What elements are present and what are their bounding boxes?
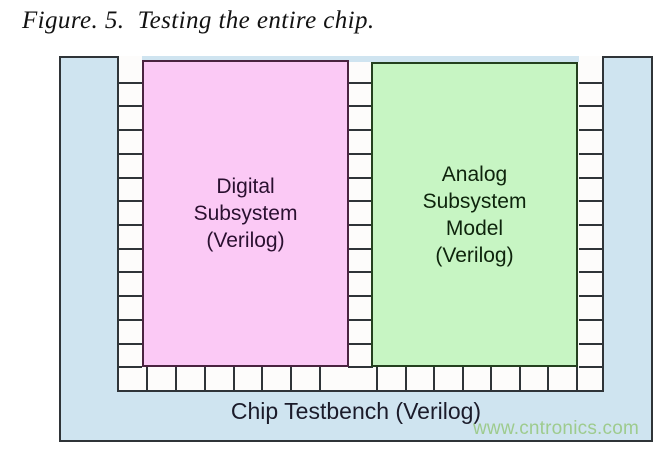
pin-middle-rung	[348, 319, 373, 321]
pin-left-rung	[117, 105, 142, 107]
chip-testbench-diagram: Digital Subsystem (Verilog) Analog Subsy…	[59, 56, 653, 442]
pin-middle-rung	[348, 271, 373, 273]
pin-column-right	[579, 58, 604, 390]
pin-right-rung	[579, 295, 604, 297]
digital-subsystem-block: Digital Subsystem (Verilog)	[142, 60, 349, 367]
pin-left-rung	[117, 343, 142, 345]
pin-left-rung	[117, 224, 142, 226]
pin-middle-rung	[348, 343, 373, 345]
pin-right-rung	[579, 177, 604, 179]
pin-left-rung	[117, 129, 142, 131]
pin-middle-rung	[348, 129, 373, 131]
pin-middle-rung	[348, 295, 373, 297]
pin-middle-rung	[348, 248, 373, 250]
pin-left-rung	[117, 200, 142, 202]
pin-middle-rung	[348, 224, 373, 226]
pin-right-rung	[579, 200, 604, 202]
pin-left-rung	[117, 248, 142, 250]
pin-middle-rung	[348, 153, 373, 155]
pin-right-rung	[579, 105, 604, 107]
pin-right-rung	[579, 343, 604, 345]
pin-right-rung	[579, 271, 604, 273]
pin-left-rung	[117, 319, 142, 321]
pin-left-rung	[117, 271, 142, 273]
pin-middle-rung	[348, 82, 373, 84]
pin-middle-rung	[348, 105, 373, 107]
pin-left-rung	[117, 153, 142, 155]
pin-column-left	[117, 58, 142, 390]
pin-column-middle	[348, 58, 373, 390]
pin-left-rung	[117, 177, 142, 179]
watermark-badge: 电子发烧友	[617, 430, 657, 446]
watermark-url: www.cntronics.com	[473, 418, 639, 440]
analog-subsystem-block: Analog Subsystem Model (Verilog)	[371, 62, 578, 367]
figure-caption: Figure. 5. Testing the entire chip.	[22, 4, 442, 40]
pin-left-rung	[117, 82, 142, 84]
pin-middle-rung	[348, 200, 373, 202]
pin-left-rung	[117, 295, 142, 297]
pin-right-rung	[579, 153, 604, 155]
pin-right-rung	[579, 129, 604, 131]
pin-right-rung	[579, 82, 604, 84]
pin-middle-rung	[348, 177, 373, 179]
pin-right-rung	[579, 224, 604, 226]
pin-right-rung	[579, 248, 604, 250]
pin-right-rung	[579, 319, 604, 321]
